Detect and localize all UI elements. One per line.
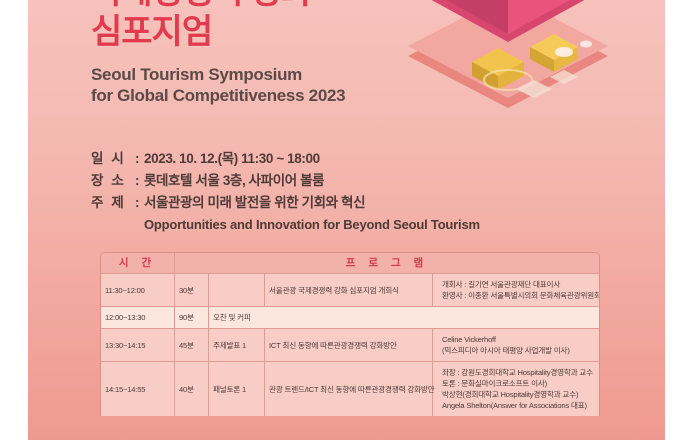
title-line-2: 심포지엄 xyxy=(91,12,451,52)
cell-program: 서울관광 국제경쟁력 강화 심포지엄 개회식 xyxy=(265,274,433,306)
cell-speakers: Celine Vickerhoff(믹스피디아 아시아 태평양 사업개발 이사) xyxy=(433,329,599,361)
schedule-table: 시 간 프 로 그 램 11:30~12:0030분서울관광 국제경쟁력 강화 … xyxy=(100,252,600,416)
table-row: 13:30~14:1545분주제발표 1ICT 최신 동향에 따른관광경쟁력 강… xyxy=(101,329,599,362)
info-row-date: 일시 : 2023. 10. 12.(목) 11:30 ~ 18:00 xyxy=(91,148,561,170)
table-row: 14:15~14:5540분패널토론 1관광 트렌드/ICT 최신 동향에 따른… xyxy=(101,362,599,416)
cell-speakers: 개회사 : 길기연 서울관광재단 대표이사환영사 : 이종환 서울특별시의회 문… xyxy=(433,274,600,306)
cell-duration: 90분 xyxy=(175,307,209,328)
table-header-row: 시 간 프 로 그 램 xyxy=(101,253,599,274)
cell-time: 13:30~14:15 xyxy=(101,329,175,361)
cell-session-type: 주제발표 1 xyxy=(209,329,265,361)
info-value-topic: 서울관광의 미래 발전을 위한 기회와 혁신 xyxy=(144,192,561,214)
cell-time: 12:00~13:30 xyxy=(101,307,175,328)
event-info-block: 일시 : 2023. 10. 12.(목) 11:30 ~ 18:00 장소 :… xyxy=(91,148,561,235)
table-header-time: 시 간 xyxy=(101,253,175,273)
info-value-date: 2023. 10. 12.(목) 11:30 ~ 18:00 xyxy=(144,148,561,170)
poster-screenshot: 국제경쟁력 강화 심포지엄 Seoul Tourism Symposium fo… xyxy=(0,0,700,440)
cell-session-type: 패널토론 1 xyxy=(209,362,265,416)
page-subtitle: Seoul Tourism Symposium for Global Compe… xyxy=(91,64,451,106)
subtitle-line-1: Seoul Tourism Symposium xyxy=(91,64,451,85)
cell-session-type xyxy=(209,274,265,306)
info-topic-english: Opportunities and Innovation for Beyond … xyxy=(144,214,561,235)
info-row-venue: 장소 : 롯데호텔 서울 3층, 사파이어 볼룸 xyxy=(91,170,561,192)
info-sep-venue: : xyxy=(135,170,144,192)
cell-duration: 40분 xyxy=(175,362,209,416)
cell-duration: 30분 xyxy=(175,274,209,306)
cell-duration: 45분 xyxy=(175,329,209,361)
info-sep-date: : xyxy=(135,148,144,170)
subtitle-line-2: for Global Competitiveness 2023 xyxy=(91,85,451,106)
cell-speakers: 좌장 : 강원도경희대학교 Hospitality경영학과 교수토론 : 문화실… xyxy=(433,362,599,416)
title-line-1: 국제경쟁력 강화 xyxy=(91,0,451,12)
cell-program: 오찬 및 커피 xyxy=(209,307,599,328)
info-sep-topic: : xyxy=(135,192,144,214)
cell-program: 관광 트렌드/ICT 최신 동향에 따른관광경쟁력 강화방안 xyxy=(265,362,433,416)
info-row-topic: 주제 : 서울관광의 미래 발전을 위한 기회와 혁신 xyxy=(91,192,561,214)
cell-time: 11:30~12:00 xyxy=(101,274,175,306)
info-key-venue: 장소 xyxy=(91,170,135,192)
table-body: 11:30~12:0030분서울관광 국제경쟁력 강화 심포지엄 개회식개회사 … xyxy=(101,274,599,416)
cell-program: ICT 최신 동향에 따른관광경쟁력 강화방안 xyxy=(265,329,433,361)
cell-time: 14:15~14:55 xyxy=(101,362,175,416)
table-header-program: 프 로 그 램 xyxy=(175,253,599,273)
page-title: 국제경쟁력 강화 심포지엄 xyxy=(91,0,451,52)
poster-panel: 국제경쟁력 강화 심포지엄 Seoul Tourism Symposium fo… xyxy=(28,0,665,440)
info-key-topic: 주제 xyxy=(91,192,135,214)
table-row: 12:00~13:3090분오찬 및 커피 xyxy=(101,307,599,329)
info-key-date: 일시 xyxy=(91,148,135,170)
table-row: 11:30~12:0030분서울관광 국제경쟁력 강화 심포지엄 개회식개회사 … xyxy=(101,274,599,307)
info-value-venue: 롯데호텔 서울 3층, 사파이어 볼룸 xyxy=(144,170,561,192)
